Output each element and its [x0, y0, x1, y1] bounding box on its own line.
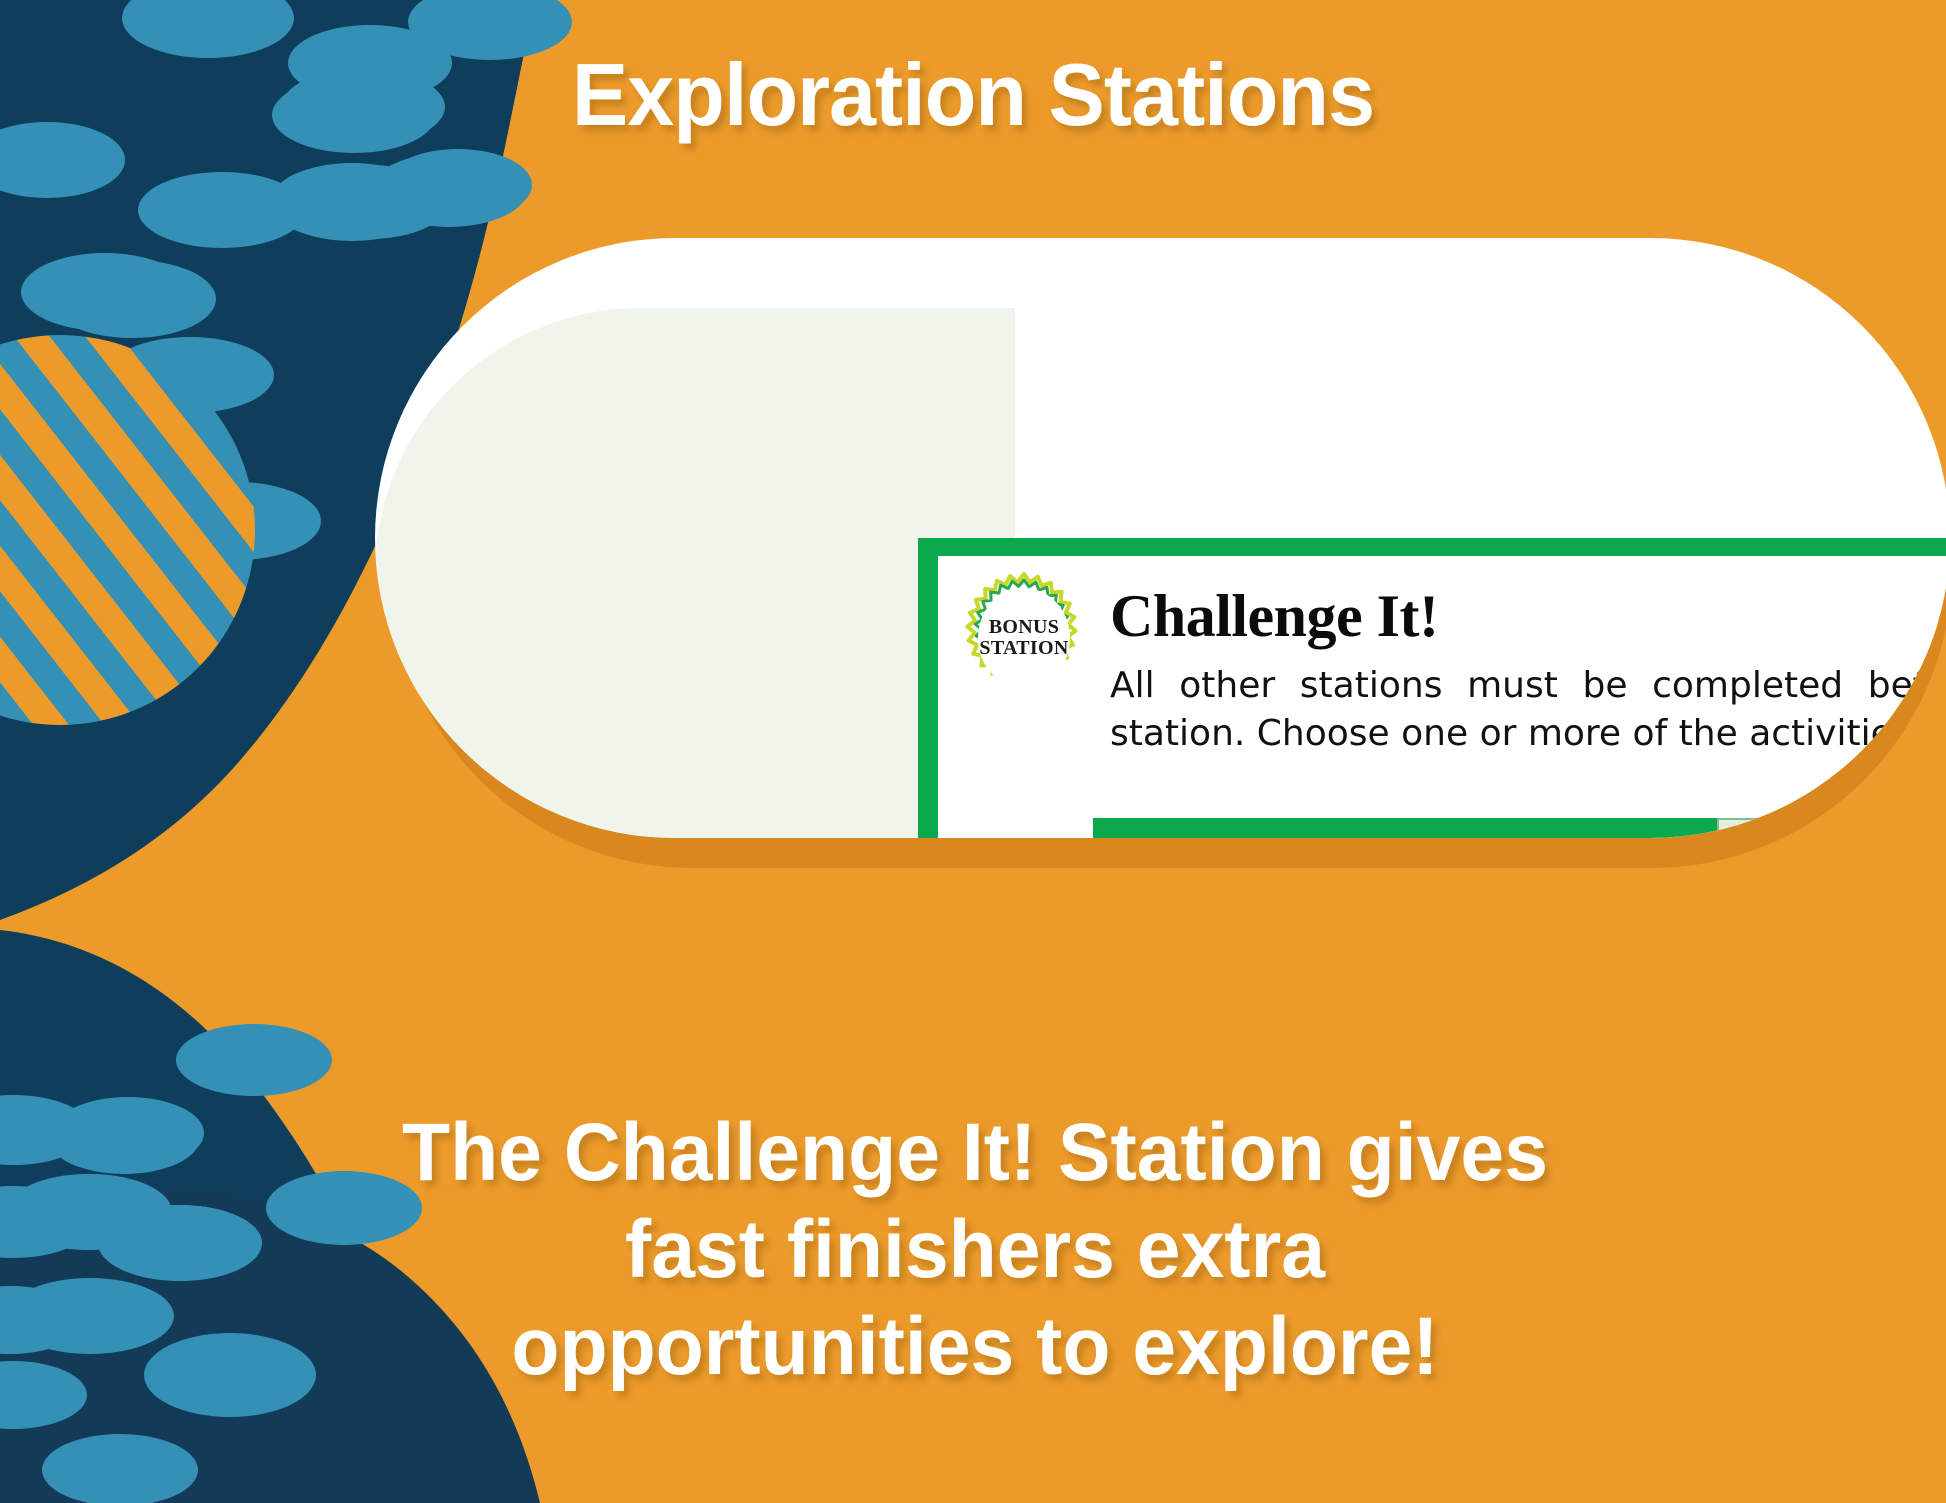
- page-caption: The Challenge It! Station gives fast fin…: [394, 1105, 1556, 1395]
- worksheet-card: BONUS STATION Challenge It! All other st…: [375, 238, 1946, 838]
- page-title: Exploration Stations: [39, 44, 1907, 146]
- activity-tiles: TEMPERATURE CHANGE 1 TEMPERATURE CHANGE …: [1093, 818, 1946, 838]
- activity-tile-temperature-change-2[interactable]: TEMPERATURE CHANGE 2: [1717, 818, 1946, 838]
- worksheet-body: BONUS STATION Challenge It! All other st…: [938, 556, 1946, 838]
- accent-ellipse-2: [384, 149, 532, 221]
- slide-canvas: Exploration Stations BONUS STATION: [0, 0, 1946, 1503]
- badge-line-2: STATION: [979, 638, 1068, 659]
- activity-tile-temperature-change-1[interactable]: TEMPERATURE CHANGE 1: [1093, 818, 1717, 838]
- worksheet-title: Challenge It!: [1110, 582, 1438, 651]
- worksheet-screenshot: BONUS STATION Challenge It! All other st…: [918, 538, 1946, 838]
- badge-line-1: BONUS: [989, 617, 1059, 638]
- badge-text-block: BONUS STATION: [958, 572, 1090, 704]
- worksheet-left-rule: [918, 538, 938, 838]
- worksheet-top-rule: [918, 538, 1946, 556]
- worksheet-instructions: All other stations must be completed bef…: [1110, 662, 1946, 757]
- bonus-station-badge: BONUS STATION: [958, 572, 1090, 704]
